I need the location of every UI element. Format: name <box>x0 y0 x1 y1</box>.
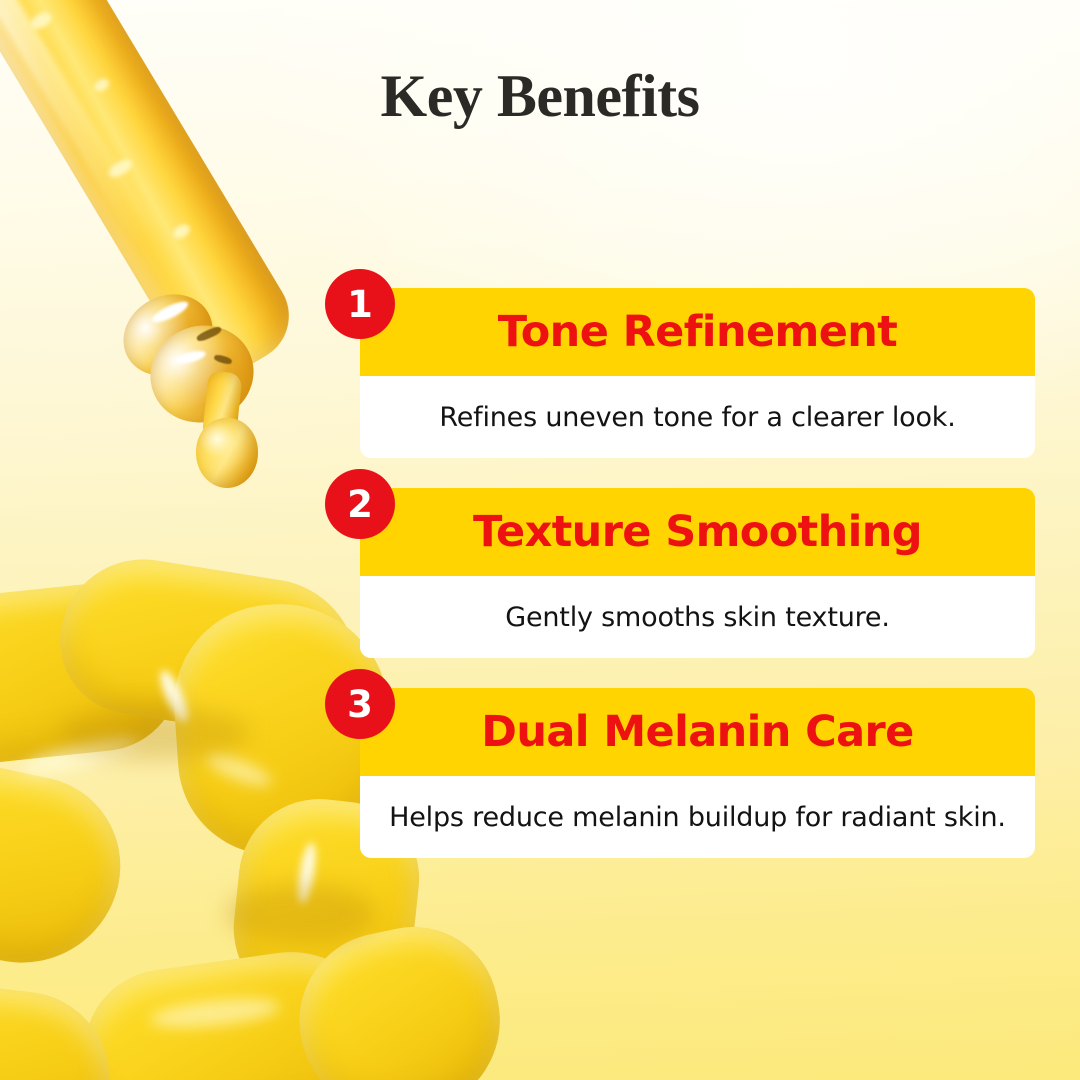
benefit-description-3: Helps reduce melanin buildup for radiant… <box>389 802 1006 833</box>
benefit-title-1: Tone Refinement <box>498 307 898 357</box>
benefit-header-3: Dual Melanin Care <box>360 688 1035 776</box>
benefit-header-2: Texture Smoothing <box>360 488 1035 576</box>
benefit-body-2: Gently smooths skin texture. <box>360 576 1035 658</box>
benefit-card-1[interactable]: 1 Tone Refinement Refines uneven tone fo… <box>360 288 1035 458</box>
benefit-description-2: Gently smooths skin texture. <box>505 602 889 633</box>
benefit-number-badge-2: 2 <box>325 469 395 539</box>
benefit-body-1: Refines uneven tone for a clearer look. <box>360 376 1035 458</box>
benefit-card-3[interactable]: 3 Dual Melanin Care Helps reduce melanin… <box>360 688 1035 858</box>
benefit-header-1: Tone Refinement <box>360 288 1035 376</box>
benefit-number-2: 2 <box>347 486 373 523</box>
benefit-body-3: Helps reduce melanin buildup for radiant… <box>360 776 1035 858</box>
benefits-list: 1 Tone Refinement Refines uneven tone fo… <box>360 288 1035 858</box>
benefit-title-2: Texture Smoothing <box>473 507 922 557</box>
benefit-number-1: 1 <box>347 286 373 323</box>
benefit-number-badge-3: 3 <box>325 669 395 739</box>
benefit-description-1: Refines uneven tone for a clearer look. <box>439 402 955 433</box>
page-title: Key Benefits <box>0 62 1080 131</box>
infographic-canvas: Key Benefits 1 Tone Refinement Refines u… <box>0 0 1080 1080</box>
benefit-title-3: Dual Melanin Care <box>481 707 913 757</box>
benefit-number-badge-1: 1 <box>325 269 395 339</box>
benefit-number-3: 3 <box>347 686 373 723</box>
benefit-card-2[interactable]: 2 Texture Smoothing Gently smooths skin … <box>360 488 1035 658</box>
